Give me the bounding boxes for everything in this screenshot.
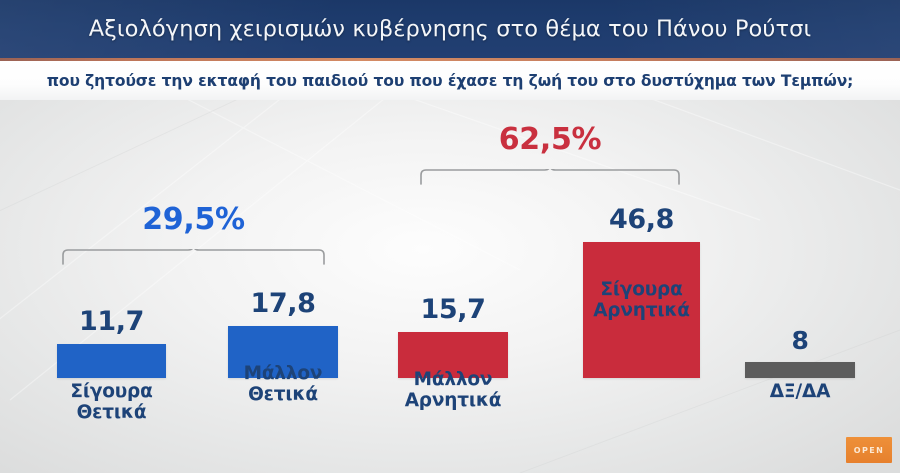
group-total-positive: 29,5% [62,205,325,235]
bar-value: 8 [745,328,855,353]
bar-value: 46,8 [583,206,700,233]
bar-group-mallon-arnitika[interactable]: 15,7 Μάλλον Αρνητικά [398,332,508,378]
bracket-negative [420,169,680,185]
bar-value: 11,7 [57,308,166,335]
bar-rect [745,362,855,378]
page-subtitle: που ζητούσε την εκταφή του παιδιού του π… [0,61,900,100]
bar-label: Σίγουρα Θετικά [39,382,184,423]
bar-value: 17,8 [228,290,338,317]
bar-label-line1: ΔΞ/ΔΑ [727,382,873,403]
bar-label-line2: Αρνητικά [380,391,526,412]
open-logo: OPEN [846,437,892,463]
group-total-negative: 62,5% [420,125,680,155]
bracket-positive [62,249,325,265]
bar-label-line2: Θετικά [39,403,184,424]
bar-label-line2: Αρνητικά [565,301,718,322]
bar-label-line1: Μάλλον [210,364,356,385]
bar-group-mallon-thetika[interactable]: 17,8 Μάλλον Θετικά [228,326,338,378]
bar-value: 15,7 [398,296,508,323]
broadcast-poll-graphic: Αξιολόγηση χειρισμών κυβέρνησης στο θέμα… [0,0,900,473]
open-logo-text: OPEN [854,446,884,455]
bar-label-line1: Μάλλον [380,370,526,391]
bar-label: Μάλλον Θετικά [210,364,356,405]
bar-label-line2: Θετικά [210,385,356,406]
bar-group-sigoura-arnitika[interactable]: 46,8 Σίγουρα Αρνητικά [583,242,700,378]
bar-label: Μάλλον Αρνητικά [380,370,526,411]
bar-label-line1: Σίγουρα [39,382,184,403]
bar-group-dk-na[interactable]: 8 ΔΞ/ΔΑ [745,362,855,378]
bar-label: ΔΞ/ΔΑ [727,382,873,403]
page-title: Αξιολόγηση χειρισμών κυβέρνησης στο θέμα… [0,0,900,58]
bar-label: Σίγουρα Αρνητικά [565,280,718,321]
bar-group-sigoura-thetika[interactable]: 11,7 Σίγουρα Θετικά [57,344,166,378]
bar-label-line1: Σίγουρα [565,280,718,301]
bar-rect [57,344,166,378]
